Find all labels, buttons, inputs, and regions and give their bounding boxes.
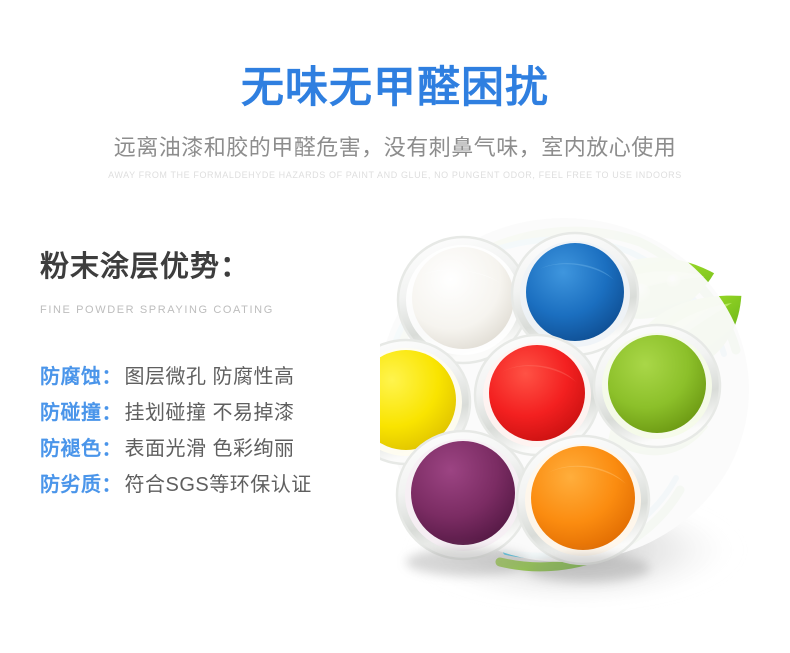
powder-jars-illustration (380, 190, 790, 610)
feature-item-anti-corrosion: 防腐蚀 ： 图层微孔 防腐性高 (40, 360, 370, 396)
feature-list: 防腐蚀 ： 图层微孔 防腐性高 防碰撞 ： 挂划碰撞 不易掉漆 防褪色 ： 表面… (40, 360, 370, 504)
feature-key: 防劣质 (40, 468, 102, 497)
headline-subtitle-en: AWAY FROM THE FORMALDEHYDE HAZARDS OF PA… (0, 168, 790, 182)
feature-item-anti-fade: 防褪色 ： 表面光滑 色彩绚丽 (40, 432, 370, 468)
feature-colon: ： (102, 468, 122, 497)
feature-key: 防腐蚀 (40, 360, 102, 389)
feature-colon: ： (102, 360, 122, 389)
feature-colon: ： (102, 432, 122, 461)
feature-colon: ： (102, 396, 122, 425)
orange-powder-jar (517, 436, 649, 564)
green-powder-jar (594, 325, 720, 447)
purple-powder-jar (397, 431, 529, 559)
feature-key: 防褪色 (40, 432, 102, 461)
feature-value: 符合SGS等环保认证 (122, 468, 312, 497)
feature-item-anti-inferior: 防劣质 ： 符合SGS等环保认证 (40, 468, 370, 504)
feature-key: 防碰撞 (40, 396, 102, 425)
product-banner: 无味无甲醛困扰 远离油漆和胶的甲醛危害，没有刺鼻气味，室内放心使用 AWAY F… (0, 0, 790, 653)
features-subtitle: FINE POWDER SPRAYING COATING (40, 302, 370, 318)
feature-value: 表面光滑 色彩绚丽 (122, 432, 295, 461)
features-title: 粉末涂层优势： (40, 248, 370, 286)
headline-title: 无味无甲醛困扰 (0, 63, 790, 113)
feature-value: 挂划碰撞 不易掉漆 (122, 396, 295, 425)
headline-subtitle-cn: 远离油漆和胶的甲醛危害，没有刺鼻气味，室内放心使用 (0, 133, 790, 163)
powder-jars-photo (380, 190, 790, 610)
features-panel: 粉末涂层优势： FINE POWDER SPRAYING COATING 防腐蚀… (40, 248, 370, 318)
feature-item-anti-impact: 防碰撞 ： 挂划碰撞 不易掉漆 (40, 396, 370, 432)
feature-value: 图层微孔 防腐性高 (122, 360, 295, 389)
